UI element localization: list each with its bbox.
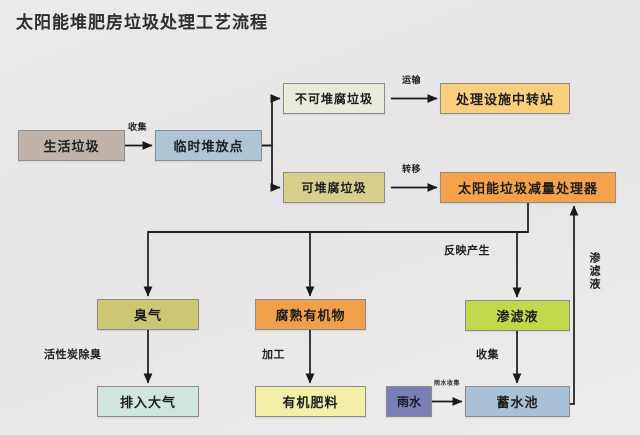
edge-label-activated-carbon-deodorize: 活性炭除臭 bbox=[44, 346, 102, 362]
node-water-tank[interactable]: 蓄水池 bbox=[465, 386, 570, 417]
node-label: 可堆腐垃圾 bbox=[301, 179, 366, 196]
node-compostable-waste[interactable]: 可堆腐垃圾 bbox=[283, 172, 385, 203]
edge-label-collect: 收集 bbox=[128, 120, 147, 133]
edge-label-leachate-return: 渗滤液 bbox=[586, 252, 602, 291]
diagram-canvas: 太阳能堆肥房垃圾处理工艺流程 bbox=[0, 0, 640, 435]
edge-label-reaction-produce: 反映产生 bbox=[444, 242, 490, 258]
node-label: 不可堆腐垃圾 bbox=[295, 90, 373, 107]
edge-temp-to-noncompost bbox=[262, 99, 280, 146]
node-label: 蓄水池 bbox=[496, 392, 538, 411]
edge-temp-to-compost bbox=[262, 146, 280, 188]
node-organic-fertilizer[interactable]: 有机肥料 bbox=[255, 386, 366, 417]
node-label: 排入大气 bbox=[120, 392, 176, 411]
edge-label-shift: 转移 bbox=[402, 162, 421, 175]
node-transfer-station[interactable]: 处理设施中转站 bbox=[440, 83, 570, 114]
edge-tank-to-solar bbox=[570, 206, 574, 404]
node-mature-organics[interactable]: 腐熟有机物 bbox=[255, 299, 366, 330]
node-odor[interactable]: 臭气 bbox=[97, 299, 199, 330]
node-label: 生活垃圾 bbox=[43, 136, 99, 155]
node-label: 临时堆放点 bbox=[173, 136, 243, 155]
node-non-compostable-waste[interactable]: 不可堆腐垃圾 bbox=[283, 83, 385, 114]
node-label: 臭气 bbox=[134, 305, 162, 324]
page-title: 太阳能堆肥房垃圾处理工艺流程 bbox=[16, 8, 268, 33]
node-temporary-pile[interactable]: 临时堆放点 bbox=[155, 130, 262, 161]
edge-label-rain-collection: 雨水收集 bbox=[434, 378, 460, 387]
connector-layer bbox=[0, 0, 640, 435]
node-label: 处理设施中转站 bbox=[456, 89, 554, 108]
node-leachate[interactable]: 渗滤液 bbox=[465, 300, 570, 331]
edge-label-transport: 运输 bbox=[402, 73, 421, 86]
node-exhaust-to-atmosphere[interactable]: 排入大气 bbox=[97, 386, 199, 417]
node-label: 渗滤液 bbox=[496, 306, 538, 325]
node-solar-waste-reducer[interactable]: 太阳能垃圾减量处理器 bbox=[440, 172, 616, 203]
edge-label-processing: 加工 bbox=[262, 346, 285, 362]
node-rainwater[interactable]: 雨水 bbox=[386, 386, 432, 417]
node-label: 腐熟有机物 bbox=[275, 305, 345, 324]
edge-label-collect-leachate: 收集 bbox=[476, 346, 499, 362]
node-label: 有机肥料 bbox=[282, 392, 338, 411]
node-label: 雨水 bbox=[397, 393, 421, 410]
node-domestic-waste[interactable]: 生活垃圾 bbox=[18, 130, 125, 161]
node-label: 太阳能垃圾减量处理器 bbox=[458, 178, 598, 197]
